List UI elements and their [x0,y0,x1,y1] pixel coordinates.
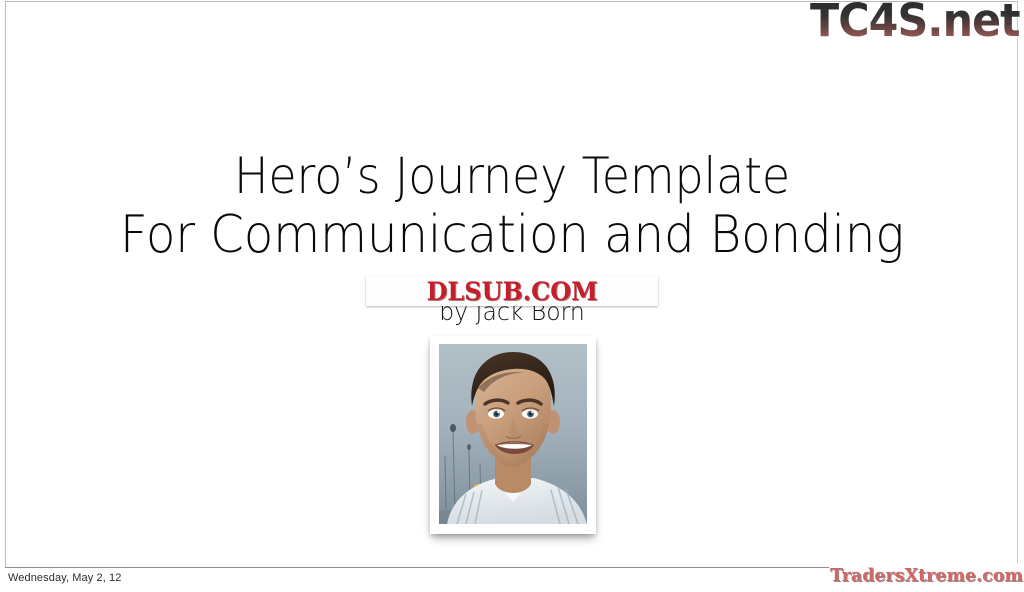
author-photo-frame [430,336,596,534]
watermark-tc4s: TC4S.net [810,0,1020,43]
presentation-slide: TC4S.net Hero’s Journey Template For Com… [0,0,1024,592]
author-portrait-illustration [439,344,587,524]
watermark-dlsub-text: DLSUB.COM [426,279,597,304]
title-line-1: Hero’s Journey Template [41,148,983,204]
footer-date: Wednesday, May 2, 12 [8,572,122,584]
watermark-tradersxtreme-box: TradersXtreme.com [829,563,1024,589]
watermark-tradersxtreme-text: TradersXtreme.com [830,567,1023,585]
slide-title: Hero’s Journey Template For Communicatio… [0,148,1024,264]
watermark-dlsub-box: DLSUB.COM [366,276,658,306]
title-line-2: For Communication and Bonding [36,206,988,264]
author-photo [439,344,587,524]
